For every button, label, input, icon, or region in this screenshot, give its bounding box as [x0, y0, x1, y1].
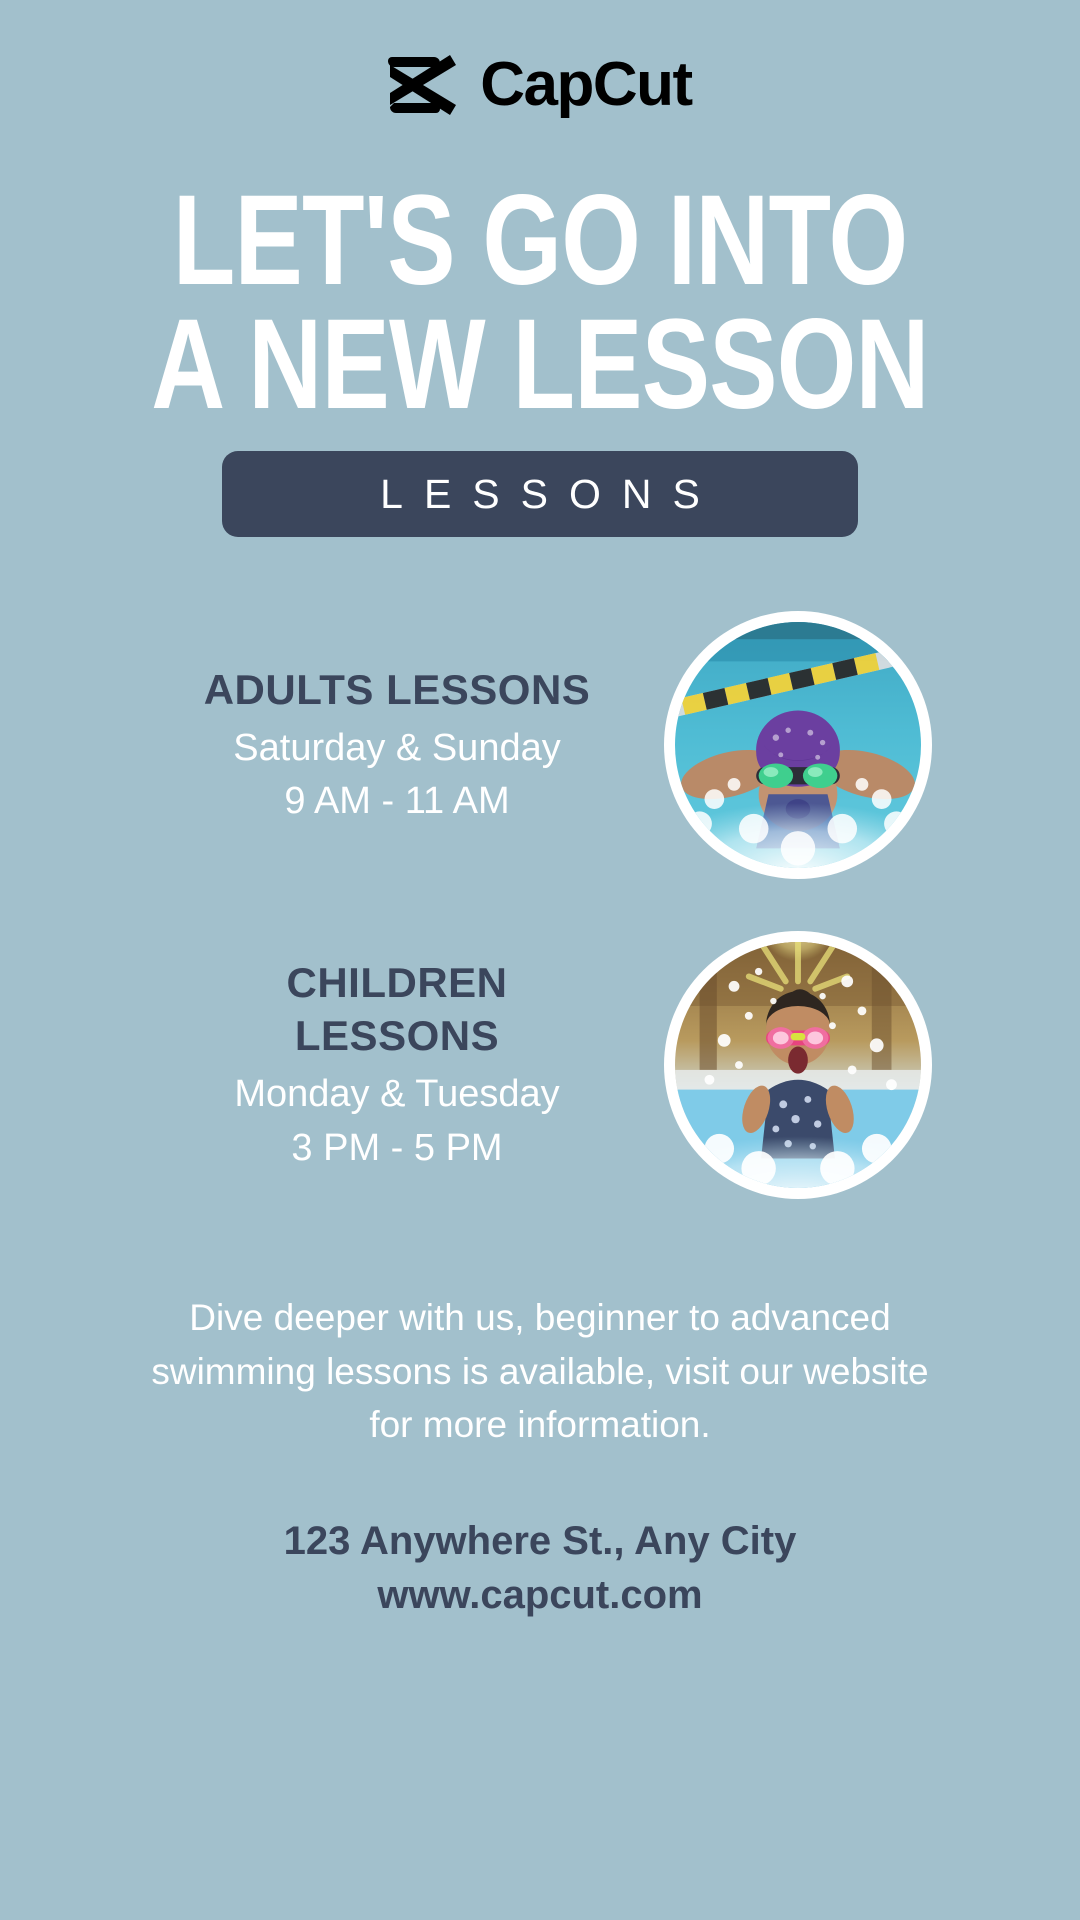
child-swimmer-photo [664, 931, 932, 1199]
lesson-days-adults: Saturday & Sunday [182, 724, 612, 773]
lesson-time-adults: 9 AM - 11 AM [182, 777, 612, 826]
adult-swimmer-photo [664, 611, 932, 879]
lesson-text-children: CHILDREN LESSONS Monday & Tuesday 3 PM -… [182, 957, 612, 1173]
capcut-logo-icon [388, 53, 462, 117]
lesson-title-children: CHILDREN LESSONS [182, 957, 612, 1062]
lesson-text-adults: ADULTS LESSONS Saturday & Sunday 9 AM - … [182, 664, 612, 827]
lesson-row-children: CHILDREN LESSONS Monday & Tuesday 3 PM -… [0, 931, 1080, 1199]
brand-logo: CapCut [388, 52, 691, 118]
description-text: Dive deeper with us, beginner to advance… [130, 1291, 950, 1452]
headline: LET'S GO INTO A NEW LESSON [0, 180, 1080, 425]
lessons-badge: LESSONS [222, 451, 858, 537]
lesson-days-children: Monday & Tuesday [182, 1070, 612, 1119]
lesson-time-children: 3 PM - 5 PM [182, 1124, 612, 1173]
headline-line-1: LET'S GO INTO [108, 180, 972, 302]
lesson-row-adults: ADULTS LESSONS Saturday & Sunday 9 AM - … [0, 611, 1080, 879]
footer-website[interactable]: www.capcut.com [0, 1568, 1080, 1622]
lesson-list: ADULTS LESSONS Saturday & Sunday 9 AM - … [0, 611, 1080, 1199]
poster-canvas: CapCut LET'S GO INTO A NEW LESSON LESSON… [0, 0, 1080, 1920]
headline-line-2: A NEW LESSON [108, 304, 972, 426]
lessons-badge-label: LESSONS [359, 471, 721, 518]
footer-address: 123 Anywhere St., Any City [0, 1514, 1080, 1568]
footer: 123 Anywhere St., Any City www.capcut.co… [0, 1514, 1080, 1622]
lesson-title-adults: ADULTS LESSONS [182, 664, 612, 717]
brand-name: CapCut [480, 54, 691, 116]
